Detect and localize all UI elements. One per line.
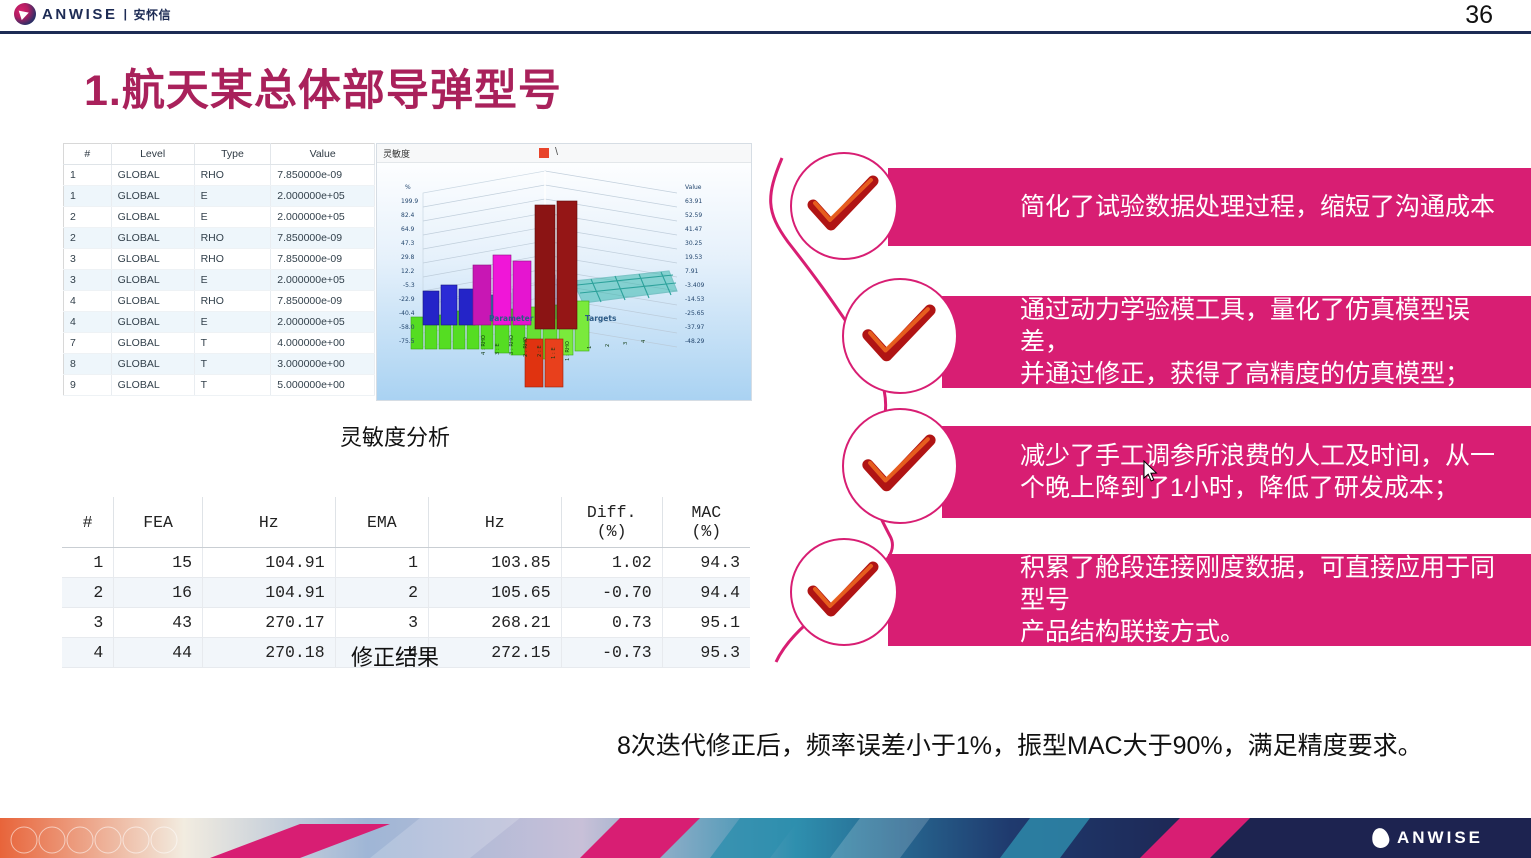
svg-text:29.8: 29.8 bbox=[401, 254, 415, 261]
col-header-fea: FEA bbox=[114, 497, 203, 548]
footer-decorative-band: ANWISE bbox=[0, 818, 1531, 858]
table-row: 2 16 104.91 2 105.65 -0.70 94.4 bbox=[62, 578, 750, 608]
cell-level: GLOBAL bbox=[111, 186, 194, 207]
cell-diff: 0.73 bbox=[561, 608, 662, 638]
cell-level: GLOBAL bbox=[111, 249, 194, 270]
caption-correction-results: 修正结果 bbox=[260, 640, 530, 672]
cell-value: 2.000000e+05 bbox=[271, 207, 375, 228]
svg-text:52.59: 52.59 bbox=[685, 212, 702, 219]
callout-item-4: 积累了舱段连接刚度数据，可直接应用于同型号 产品结构联接方式。 bbox=[888, 554, 1531, 646]
cell-ema-mode: 2 bbox=[335, 578, 428, 608]
table-row: 3 43 270.17 3 268.21 0.73 95.1 bbox=[62, 608, 750, 638]
callout-text-3: 减少了手工调参所浪费的人工及时间，从一 个晚上降到了1小时，降低了研发成本； bbox=[1020, 440, 1495, 504]
callout-text-2-line-2: 并通过修正，获得了高精度的仿真模型； bbox=[1020, 358, 1517, 390]
svg-text:63.91: 63.91 bbox=[685, 198, 702, 205]
check-badge-1 bbox=[790, 152, 898, 260]
cell-index: 1 bbox=[62, 548, 114, 578]
svg-text:-5.3: -5.3 bbox=[403, 282, 415, 289]
cell-level: GLOBAL bbox=[111, 165, 194, 186]
svg-text:4 : RHO: 4 : RHO bbox=[481, 335, 487, 355]
col-header-index: # bbox=[64, 144, 112, 165]
cell-diff: -0.70 bbox=[561, 578, 662, 608]
svg-text:7.91: 7.91 bbox=[685, 268, 699, 275]
table-row: 9 GLOBAL T 5.000000e+00 bbox=[64, 375, 375, 396]
table-row: 1 GLOBAL E 2.000000e+05 bbox=[64, 186, 375, 207]
callout-text-2: 通过动力学验模工具，量化了仿真模型误差， 并通过修正，获得了高精度的仿真模型； bbox=[1020, 294, 1517, 390]
cell-index: 1 bbox=[64, 165, 112, 186]
chart-titlebar: 灵敏度 \ bbox=[377, 144, 751, 163]
brand-name: ANWISE bbox=[42, 6, 118, 23]
cell-value: 7.850000e-09 bbox=[271, 165, 375, 186]
svg-text:Parameter: Parameter bbox=[489, 314, 534, 323]
svg-text:-37.97: -37.97 bbox=[685, 324, 705, 331]
cell-ema-mode: 3 bbox=[335, 608, 428, 638]
callout-item-2: 通过动力学验模工具，量化了仿真模型误差， 并通过修正，获得了高精度的仿真模型； bbox=[942, 296, 1531, 388]
cell-level: GLOBAL bbox=[111, 333, 194, 354]
col-header-value: Value bbox=[271, 144, 375, 165]
cell-value: 7.850000e-09 bbox=[271, 228, 375, 249]
svg-text:82.4: 82.4 bbox=[401, 212, 415, 219]
callout-item-3: 减少了手工调参所浪费的人工及时间，从一 个晚上降到了1小时，降低了研发成本； bbox=[942, 426, 1531, 518]
check-icon bbox=[807, 561, 881, 623]
svg-text:-75.5: -75.5 bbox=[399, 338, 415, 345]
table-header-row: # Level Type Value bbox=[64, 144, 375, 165]
cell-fea-mode: 44 bbox=[114, 638, 203, 668]
col-header-index: # bbox=[62, 497, 114, 548]
anwise-logo-icon bbox=[14, 3, 36, 25]
cell-index: 4 bbox=[62, 638, 114, 668]
cell-type: T bbox=[194, 354, 271, 375]
cell-diff: 1.02 bbox=[561, 548, 662, 578]
check-badge-4 bbox=[790, 538, 898, 646]
cell-value: 7.850000e-09 bbox=[271, 249, 375, 270]
cell-type: T bbox=[194, 375, 271, 396]
top-bar: ANWISE | 安怀信 36 bbox=[0, 0, 1531, 31]
sensitivity-chart-panel: 灵敏度 \ bbox=[376, 143, 752, 401]
footer-brand-logo: ANWISE bbox=[1372, 828, 1483, 848]
cell-type: E bbox=[194, 186, 271, 207]
cell-value: 2.000000e+05 bbox=[271, 270, 375, 291]
col-header-fea-hz: Hz bbox=[203, 497, 336, 548]
svg-text:3: 3 bbox=[623, 342, 629, 345]
col-header-type: Type bbox=[194, 144, 271, 165]
cell-index: 7 bbox=[64, 333, 112, 354]
svg-text:3 : E: 3 : E bbox=[495, 343, 501, 355]
table-row: 1 GLOBAL RHO 7.850000e-09 bbox=[64, 165, 375, 186]
slide-root: ANWISE | 安怀信 36 1.航天某总体部导弹型号 # Level Typ… bbox=[0, 0, 1531, 858]
cell-ema-hz: 268.21 bbox=[429, 608, 562, 638]
cell-type: E bbox=[194, 312, 271, 333]
svg-text:64.9: 64.9 bbox=[401, 226, 415, 233]
table-row: 4 GLOBAL RHO 7.850000e-09 bbox=[64, 291, 375, 312]
table-row: 3 GLOBAL RHO 7.850000e-09 bbox=[64, 249, 375, 270]
cell-level: GLOBAL bbox=[111, 270, 194, 291]
summary-footnote: 8次迭代修正后，频率误差小于1%，振型MAC大于90%，满足精度要求。 bbox=[617, 726, 1423, 762]
stop-icon[interactable] bbox=[539, 148, 549, 158]
svg-text:-40.4: -40.4 bbox=[399, 310, 415, 317]
cell-level: GLOBAL bbox=[111, 354, 194, 375]
callout-text-4: 积累了舱段连接刚度数据，可直接应用于同型号 产品结构联接方式。 bbox=[1020, 552, 1517, 648]
cell-value: 5.000000e+00 bbox=[271, 375, 375, 396]
svg-text:-3.409: -3.409 bbox=[685, 282, 705, 289]
cell-fea-mode: 16 bbox=[114, 578, 203, 608]
svg-text:%: % bbox=[405, 184, 411, 191]
callout-text-3-line-2: 个晚上降到了1小时，降低了研发成本； bbox=[1020, 472, 1495, 504]
cell-fea-mode: 15 bbox=[114, 548, 203, 578]
cell-index: 2 bbox=[62, 578, 114, 608]
col-header-ema: EMA bbox=[335, 497, 428, 548]
cell-level: GLOBAL bbox=[111, 207, 194, 228]
benefits-callout-group: 简化了试验数据处理过程，缩短了沟通成本 通过动力学验模工具，量化了仿真模型误差，… bbox=[760, 150, 1531, 670]
table-row: 3 GLOBAL E 2.000000e+05 bbox=[64, 270, 375, 291]
svg-text:19.53: 19.53 bbox=[685, 254, 702, 261]
cell-fea-hz: 104.91 bbox=[203, 578, 336, 608]
cell-ema-hz: 105.65 bbox=[429, 578, 562, 608]
brand-separator: | bbox=[124, 7, 128, 21]
svg-text:-14.53: -14.53 bbox=[685, 296, 705, 303]
col-header-mac: MAC (%) bbox=[662, 497, 750, 548]
svg-text:1: 1 bbox=[587, 346, 593, 349]
callout-text-4-line-1: 积累了舱段连接刚度数据，可直接应用于同型号 bbox=[1020, 552, 1517, 616]
cell-index: 3 bbox=[62, 608, 114, 638]
sensitivity-parameter-table: # Level Type Value 1 GLOBAL RHO 7.850000… bbox=[63, 143, 375, 396]
check-icon bbox=[861, 304, 939, 368]
cell-value: 2.000000e+05 bbox=[271, 186, 375, 207]
table-row: 1 15 104.91 1 103.85 1.02 94.3 bbox=[62, 548, 750, 578]
brand-logo: ANWISE | 安怀信 bbox=[14, 3, 171, 25]
cell-index: 3 bbox=[64, 249, 112, 270]
svg-text:2: 2 bbox=[605, 344, 611, 347]
cell-type: RHO bbox=[194, 291, 271, 312]
cell-mac: 95.3 bbox=[662, 638, 750, 668]
svg-text:199.9: 199.9 bbox=[401, 198, 418, 205]
cell-index: 8 bbox=[64, 354, 112, 375]
cell-index: 2 bbox=[64, 228, 112, 249]
header-divider bbox=[0, 31, 1531, 34]
cell-fea-mode: 43 bbox=[114, 608, 203, 638]
check-icon bbox=[807, 175, 881, 237]
page-number: 36 bbox=[1465, 1, 1493, 30]
cell-type: E bbox=[194, 270, 271, 291]
table-row: 2 GLOBAL E 2.000000e+05 bbox=[64, 207, 375, 228]
svg-text:41.47: 41.47 bbox=[685, 226, 702, 233]
cell-index: 1 bbox=[64, 186, 112, 207]
cell-index: 9 bbox=[64, 375, 112, 396]
cell-level: GLOBAL bbox=[111, 291, 194, 312]
svg-text:-58.0: -58.0 bbox=[399, 324, 415, 331]
svg-text:2 : RHO: 2 : RHO bbox=[523, 337, 529, 357]
check-icon bbox=[861, 434, 939, 498]
table-row: 4 GLOBAL E 2.000000e+05 bbox=[64, 312, 375, 333]
col-header-ema-hz: Hz bbox=[429, 497, 562, 548]
table-row: 7 GLOBAL T 4.000000e+00 bbox=[64, 333, 375, 354]
cell-level: GLOBAL bbox=[111, 312, 194, 333]
cell-index: 3 bbox=[64, 270, 112, 291]
svg-text:1 : RHO: 1 : RHO bbox=[565, 341, 571, 361]
cell-mac: 94.4 bbox=[662, 578, 750, 608]
callout-text-4-line-2: 产品结构联接方式。 bbox=[1020, 616, 1517, 648]
cell-index: 4 bbox=[64, 291, 112, 312]
callout-text-3-line-1: 减少了手工调参所浪费的人工及时间，从一 bbox=[1020, 440, 1495, 472]
cell-diff: -0.73 bbox=[561, 638, 662, 668]
cell-type: RHO bbox=[194, 249, 271, 270]
col-header-diff: Diff. (%) bbox=[561, 497, 662, 548]
cell-type: E bbox=[194, 207, 271, 228]
cell-ema-hz: 103.85 bbox=[429, 548, 562, 578]
svg-text:-25.65: -25.65 bbox=[685, 310, 705, 317]
cell-type: RHO bbox=[194, 165, 271, 186]
svg-text:3 : RHO: 3 : RHO bbox=[509, 335, 515, 355]
cell-fea-hz: 104.91 bbox=[203, 548, 336, 578]
cell-fea-hz: 270.17 bbox=[203, 608, 336, 638]
cell-level: GLOBAL bbox=[111, 228, 194, 249]
cell-type: T bbox=[194, 333, 271, 354]
table-row: 8 GLOBAL T 3.000000e+00 bbox=[64, 354, 375, 375]
check-badge-2 bbox=[842, 278, 958, 394]
svg-text:-48.29: -48.29 bbox=[685, 338, 705, 345]
svg-text:2 : E: 2 : E bbox=[537, 345, 543, 357]
mouse-cursor-icon bbox=[1143, 460, 1159, 484]
cell-ema-mode: 1 bbox=[335, 548, 428, 578]
svg-text:12.2: 12.2 bbox=[401, 268, 415, 275]
table-row: 2 GLOBAL RHO 7.850000e-09 bbox=[64, 228, 375, 249]
cell-value: 2.000000e+05 bbox=[271, 312, 375, 333]
svg-text:1 : E: 1 : E bbox=[551, 347, 557, 359]
cell-value: 4.000000e+00 bbox=[271, 333, 375, 354]
cell-mac: 94.3 bbox=[662, 548, 750, 578]
chart-window-label: 灵敏度 bbox=[383, 147, 410, 160]
svg-text:47.3: 47.3 bbox=[401, 240, 415, 247]
page-title: 1.航天某总体部导弹型号 bbox=[84, 56, 562, 118]
svg-text:-22.9: -22.9 bbox=[399, 296, 415, 303]
brand-name-cn: 安怀信 bbox=[133, 6, 171, 23]
footer-brand-name: ANWISE bbox=[1397, 828, 1483, 848]
callout-text-1: 简化了试验数据处理过程，缩短了沟通成本 bbox=[1020, 191, 1495, 223]
check-badge-3 bbox=[842, 408, 958, 524]
cell-index: 4 bbox=[64, 312, 112, 333]
svg-text:30.25: 30.25 bbox=[685, 240, 702, 247]
cell-mac: 95.1 bbox=[662, 608, 750, 638]
table-header-row: # FEA Hz EMA Hz Diff. (%) MAC (%) bbox=[62, 497, 750, 548]
cell-value: 7.850000e-09 bbox=[271, 291, 375, 312]
cell-type: RHO bbox=[194, 228, 271, 249]
callout-text-2-line-1: 通过动力学验模工具，量化了仿真模型误差， bbox=[1020, 294, 1517, 358]
chart-tab-slash: \ bbox=[555, 146, 558, 158]
caption-sensitivity-analysis: 灵敏度分析 bbox=[260, 420, 530, 452]
cell-index: 2 bbox=[64, 207, 112, 228]
svg-text:Value: Value bbox=[685, 184, 702, 191]
anwise-logo-icon bbox=[1370, 826, 1391, 849]
col-header-level: Level bbox=[111, 144, 194, 165]
cell-level: GLOBAL bbox=[111, 375, 194, 396]
svg-text:Targets: Targets bbox=[585, 314, 617, 323]
cell-value: 3.000000e+00 bbox=[271, 354, 375, 375]
callout-item-1: 简化了试验数据处理过程，缩短了沟通成本 bbox=[888, 168, 1531, 246]
chart-canvas[interactable]: % 199.9 82.4 64.9 47.3 29.8 12.2 -5.3 -2… bbox=[377, 163, 752, 401]
